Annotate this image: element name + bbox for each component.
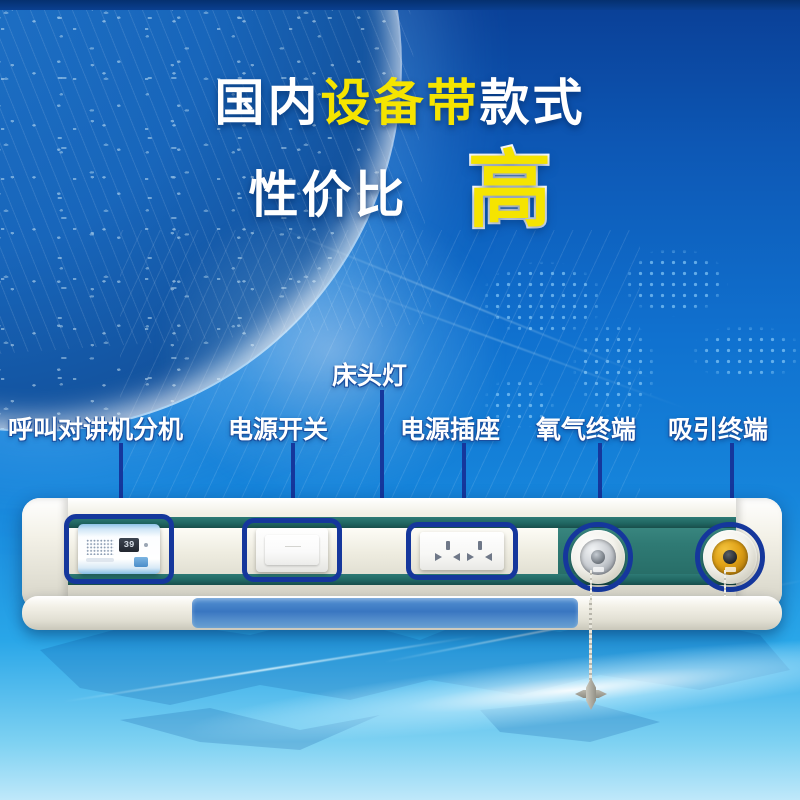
- headline-highlight: 设备带: [321, 75, 480, 131]
- highlight-box-intercom: [64, 514, 174, 584]
- cord-weight-vertical: [586, 678, 596, 710]
- highlight-circle-oxygen: [563, 522, 633, 592]
- callout-label-oxygen[interactable]: 氧气终端: [536, 410, 636, 446]
- product-promo-image: 国内设备带款式 性价比 高 呼叫对讲机分机 电源开关 床头灯 电源插座 氧气终端…: [0, 0, 800, 800]
- tube-glare: [192, 598, 578, 628]
- highlight-box-power-socket: [406, 522, 518, 580]
- headline-part-1: 国内: [215, 75, 321, 131]
- highlight-box-power-switch: [242, 518, 342, 582]
- pull-cord-upper-suction: [724, 570, 726, 596]
- headline-part-2: 款式: [480, 75, 586, 131]
- callout-label-bed-lamp[interactable]: 床头灯: [332, 356, 407, 392]
- headline-subtext: 性价比: [248, 155, 407, 227]
- callout-label-power-switch[interactable]: 电源开关: [228, 410, 328, 446]
- headline-block: 国内设备带款式 性价比 高: [0, 78, 800, 229]
- headline-line-1: 国内设备带款式: [0, 78, 800, 128]
- top-edge-bar: [0, 0, 800, 10]
- panel-end-cap-left: [22, 498, 68, 610]
- headline-line-2: 性价比 高: [0, 152, 800, 229]
- pull-cord-weight[interactable]: [575, 678, 607, 710]
- headline-emphasis: 高: [467, 152, 551, 229]
- callout-label-power-socket[interactable]: 电源插座: [400, 410, 500, 446]
- highlight-circle-suction: [695, 522, 765, 592]
- pull-cord[interactable]: [589, 600, 592, 686]
- pull-cord-upper-oxygen: [590, 570, 592, 600]
- callout-label-intercom[interactable]: 呼叫对讲机分机: [8, 410, 183, 446]
- callout-label-suction[interactable]: 吸引终端: [668, 410, 768, 446]
